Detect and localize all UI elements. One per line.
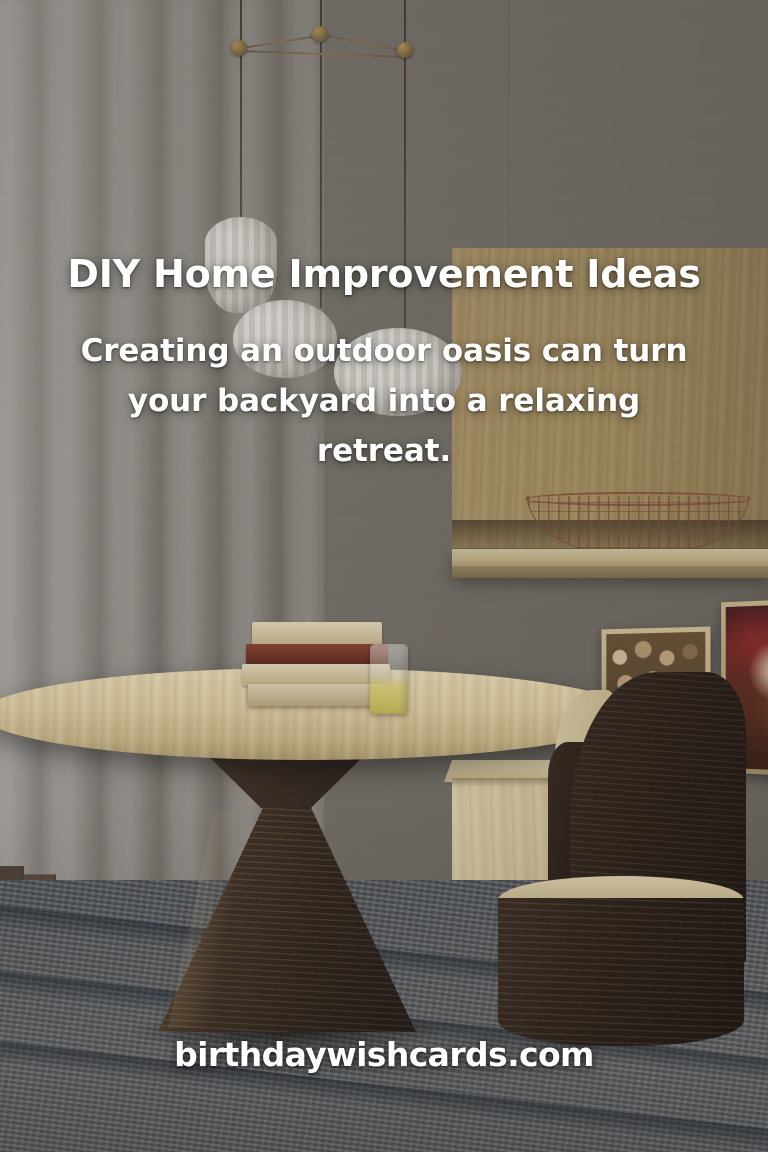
- pinterest-pin: DIY Home Improvement Ideas Creating an o…: [0, 0, 768, 1152]
- pin-headline: DIY Home Improvement Ideas: [0, 254, 768, 294]
- text-overlay: DIY Home Improvement Ideas Creating an o…: [0, 0, 768, 1152]
- site-url: birthdaywishcards.com: [0, 1035, 768, 1074]
- pin-subheadline: Creating an outdoor oasis can turn your …: [0, 326, 768, 477]
